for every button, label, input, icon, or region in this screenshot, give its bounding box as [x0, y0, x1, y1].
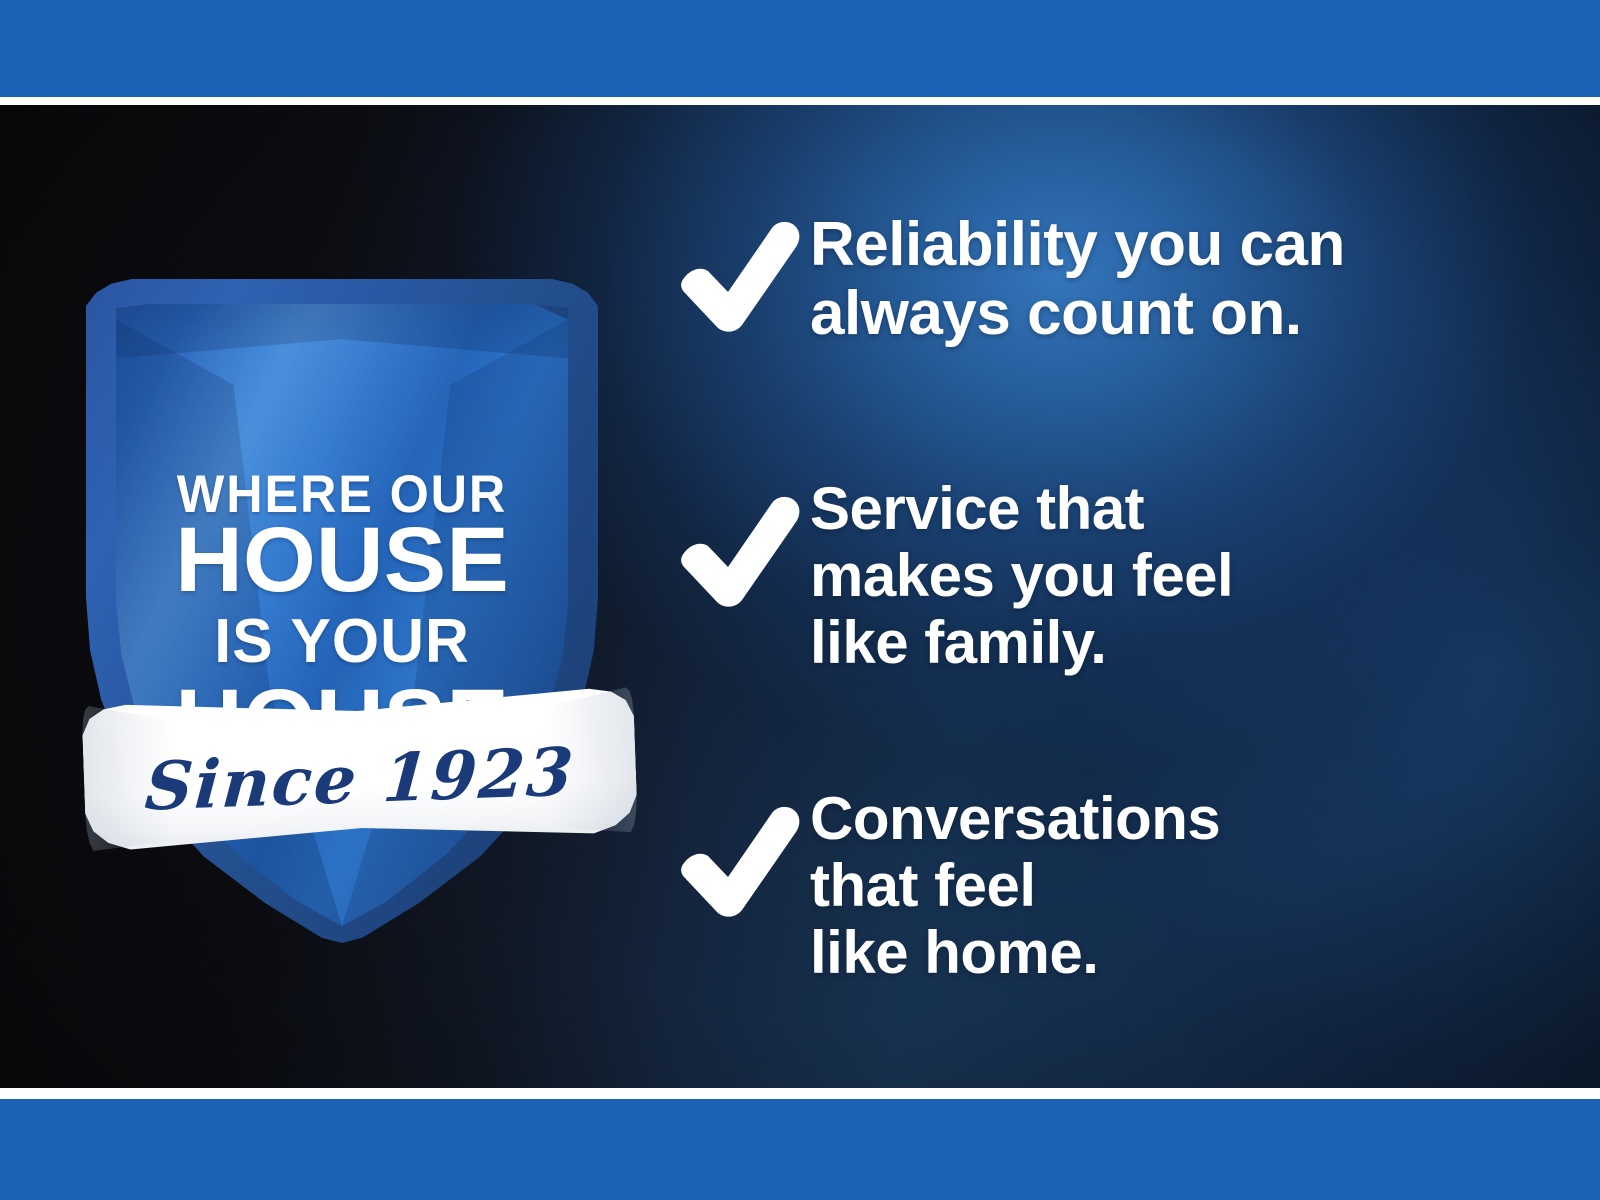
benefit-item: Reliability you can always count on. [660, 210, 1540, 349]
benefits-list: Reliability you can always count on. Ser… [660, 105, 1540, 1088]
benefit-line-3: like family. [810, 609, 1540, 676]
benefit-text: Reliability you can always count on. [810, 210, 1540, 349]
benefit-line-1: Reliability you can [810, 210, 1540, 279]
shield-graphic: WHERE OUR HOUSE IS YOUR HOUSE Since 1923 [86, 278, 598, 943]
benefit-item: Service that makes you feel like family. [660, 475, 1540, 677]
benefit-text: Service that makes you feel like family. [810, 475, 1540, 677]
shield-emblem: WHERE OUR HOUSE IS YOUR HOUSE Since 1923 [70, 178, 630, 968]
benefit-line-1: Service that [810, 475, 1540, 542]
checkmark-icon [660, 210, 810, 334]
since-ribbon: Since 1923 [81, 686, 638, 867]
checkmark-icon [660, 475, 810, 609]
benefit-line-2: makes you feel [810, 542, 1540, 609]
shield-line-house-1: HOUSE [111, 514, 572, 606]
benefit-line-1: Conversations [810, 785, 1540, 852]
promo-banner: WHERE OUR HOUSE IS YOUR HOUSE Since 1923 [0, 0, 1600, 1200]
benefit-item: Conversations that feel like home. [660, 785, 1540, 987]
benefit-text: Conversations that feel like home. [810, 785, 1540, 987]
checkmark-icon [660, 785, 810, 919]
bottom-brand-bar [0, 1099, 1600, 1200]
shield-line-is-your: IS YOUR [121, 611, 564, 673]
benefit-line-2: that feel [810, 852, 1540, 919]
top-brand-bar [0, 0, 1600, 97]
benefit-line-3: like home. [810, 919, 1540, 986]
benefit-line-2: always count on. [810, 279, 1540, 348]
